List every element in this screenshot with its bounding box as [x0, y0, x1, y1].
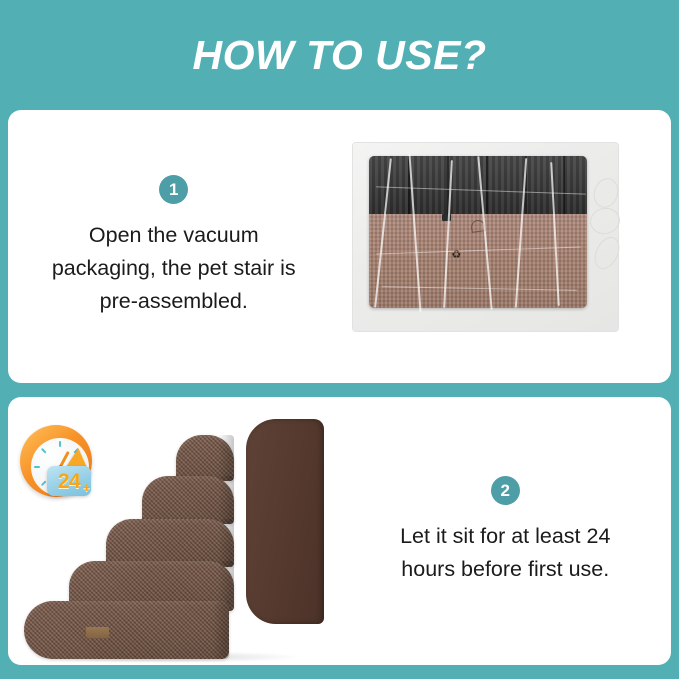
stair-step-5	[176, 435, 234, 481]
stair-step-1	[24, 601, 229, 659]
clock-24-hours-icon: 24 +	[16, 419, 108, 511]
bag-excess-plastic	[588, 174, 630, 284]
compressed-stair-block: ♻	[369, 156, 587, 308]
vacuum-package-photo: ♻	[342, 138, 632, 338]
stair-step-3	[106, 519, 234, 567]
step-card-1: 1 Open the vacuum packaging, the pet sta…	[8, 110, 671, 383]
package-step-seams	[369, 156, 587, 214]
hours-24-plus: +	[83, 481, 90, 494]
step-2-number-badge: 2	[491, 476, 520, 505]
step-2-description: Let it sit for at least 24 hours before …	[373, 520, 638, 585]
step-1-text-block: 1 Open the vacuum packaging, the pet sta…	[8, 175, 340, 317]
package-label-tag	[442, 214, 451, 221]
brand-logo-tag	[86, 627, 109, 638]
step-1-media: ♻	[340, 110, 672, 383]
step-card-2: 24 + 2 Let it sit for at least 24 hours …	[8, 397, 671, 665]
stair-side-panel	[246, 419, 324, 624]
step-1-description: Open the vacuum packaging, the pet stair…	[41, 219, 306, 317]
hours-24-value: 24	[58, 471, 80, 492]
page-title: HOW TO USE?	[192, 35, 486, 76]
stair-step-4	[142, 476, 234, 524]
recycle-icon: ♻	[451, 250, 462, 261]
steps-container: 1 Open the vacuum packaging, the pet sta…	[0, 110, 679, 679]
page-header: HOW TO USE?	[0, 0, 679, 110]
hours-24-badge: 24 +	[47, 466, 91, 496]
step-2-media: 24 +	[8, 397, 340, 665]
step-2-text-block: 2 Let it sit for at least 24 hours befor…	[340, 476, 672, 585]
step-1-number-badge: 1	[159, 175, 188, 204]
